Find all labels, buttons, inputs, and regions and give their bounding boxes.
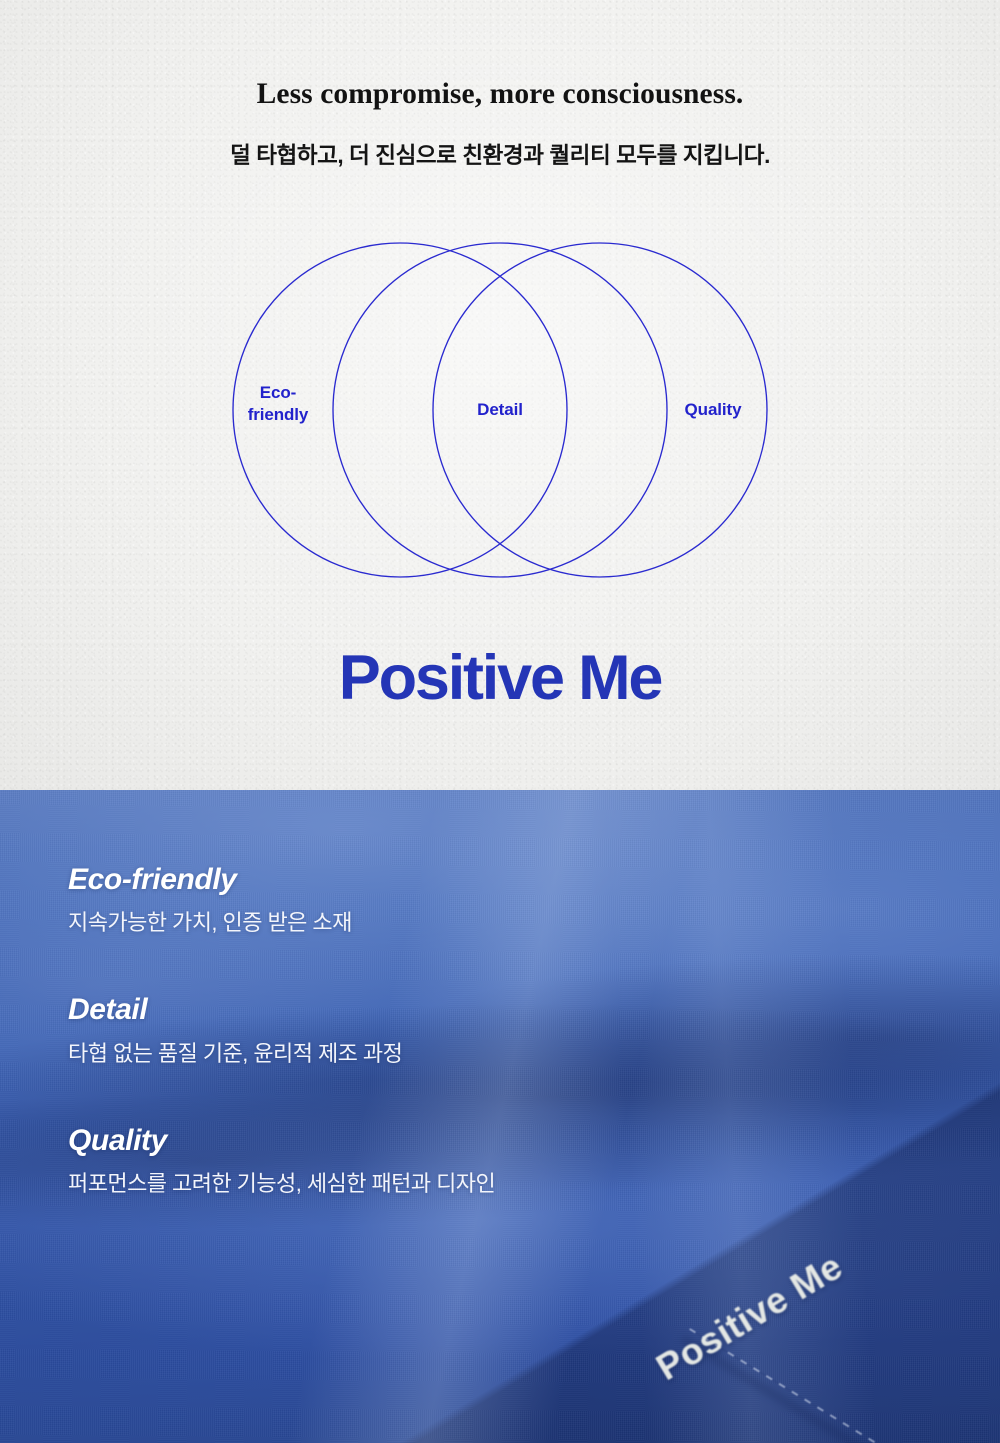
feature-title-detail: Detail	[68, 992, 928, 1027]
venn-label-eco-line2: friendly	[248, 405, 309, 424]
headline-korean: 덜 타협하고, 더 진심으로 친환경과 퀄리티 모두를 지킵니다.	[0, 138, 1000, 170]
feature-desc-eco-friendly: 지속가능한 가치, 인증 받은 소재	[68, 908, 928, 937]
feature-title-quality: Quality	[68, 1123, 928, 1158]
headline-english: Less compromise, more consciousness.	[0, 78, 1000, 111]
feature-desc-quality: 퍼포먼스를 고려한 기능성, 세심한 패턴과 디자인	[68, 1169, 928, 1198]
product-features-section: Positive Me Eco-friendly 지속가능한 가치, 인증 받은…	[0, 790, 1000, 1443]
fabric-stitch-line	[689, 1328, 1000, 1443]
brand-logo-wordmark: Positive Me	[0, 642, 1000, 714]
feature-desc-detail: 타협 없는 품질 기준, 윤리적 제조 과정	[68, 1039, 928, 1068]
fabric-stitch-shadow	[679, 1336, 1000, 1443]
venn-label-eco-line1: Eco-	[260, 383, 296, 402]
feature-item-detail: Detail 타협 없는 품질 기준, 윤리적 제조 과정	[68, 992, 928, 1067]
feature-title-eco-friendly: Eco-friendly	[68, 862, 928, 897]
venn-label-quality: Quality	[653, 399, 773, 421]
venn-label-detail: Detail	[440, 399, 560, 421]
feature-list: Eco-friendly 지속가능한 가치, 인증 받은 소재 Detail 타…	[68, 862, 928, 1198]
venn-label-eco-friendly: Eco- friendly	[218, 382, 338, 427]
feature-item-eco-friendly: Eco-friendly 지속가능한 가치, 인증 받은 소재	[68, 862, 928, 937]
fabric-printed-logo: Positive Me	[649, 1245, 850, 1389]
product-detail-page: Less compromise, more consciousness. 덜 타…	[0, 0, 1000, 1443]
brand-philosophy-section: Less compromise, more consciousness. 덜 타…	[0, 0, 1000, 790]
feature-item-quality: Quality 퍼포먼스를 고려한 기능성, 세심한 패턴과 디자인	[68, 1123, 928, 1198]
